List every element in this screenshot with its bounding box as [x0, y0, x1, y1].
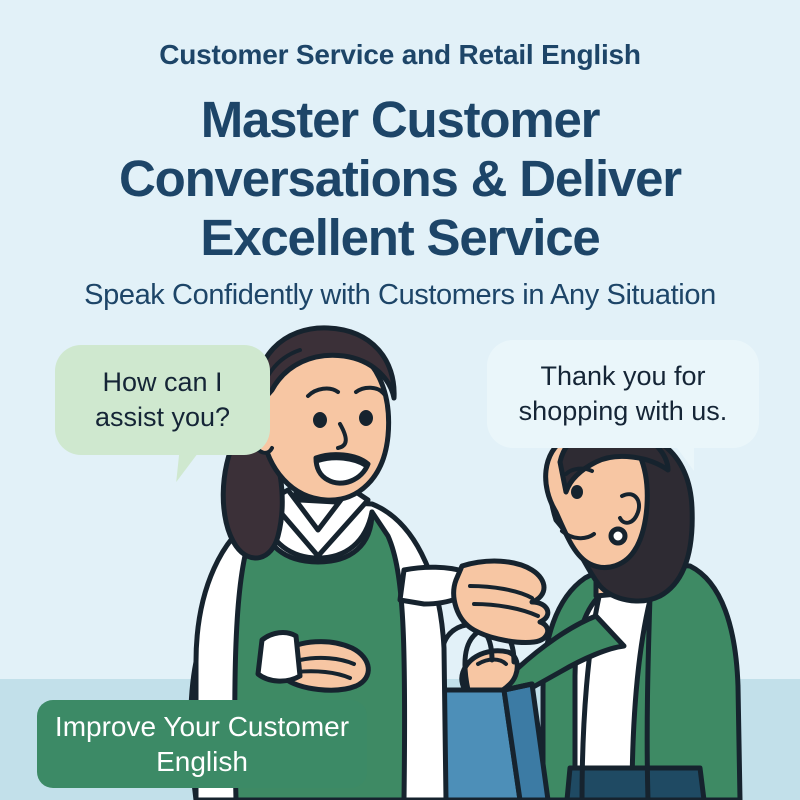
- speech-bubble-customer-tail: [672, 441, 694, 471]
- headline-line-1: Master Customer: [0, 90, 800, 149]
- cta-badge[interactable]: Improve Your Customer English: [37, 700, 367, 788]
- poster-canvas: Customer Service and Retail English Mast…: [0, 0, 800, 800]
- eyebrow-text: Customer Service and Retail English: [0, 40, 800, 71]
- headline-line-2: Conversations & Deliver: [0, 149, 800, 208]
- headline-line-3: Excellent Service: [0, 208, 800, 267]
- subtitle-text: Speak Confidently with Customers in Any …: [0, 278, 800, 313]
- speech-bubble-customer: Thank you for shopping with us.: [487, 340, 759, 448]
- page-title: Master Customer Conversations & Deliver …: [0, 90, 800, 267]
- speech-bubble-staff: How can I assist you?: [55, 345, 270, 455]
- speech-bubble-staff-tail: [176, 448, 202, 482]
